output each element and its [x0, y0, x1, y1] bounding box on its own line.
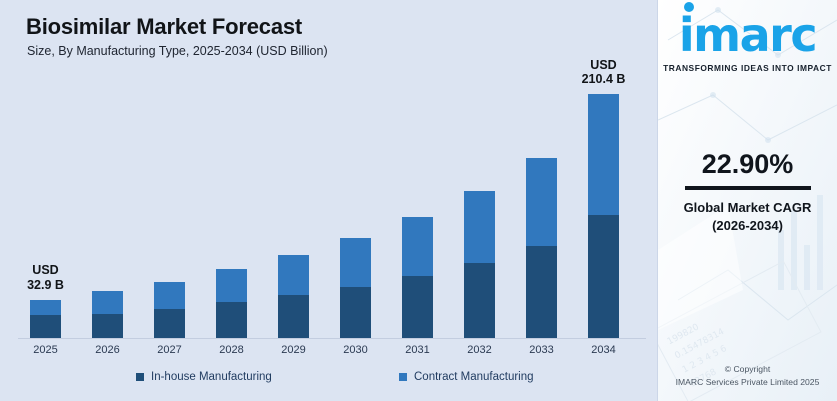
- logo-wordmark: imarc: [679, 12, 816, 58]
- logo-text: imarc: [679, 8, 816, 62]
- brand-logo: imarc TRANSFORMING IDEAS INTO IMPACT: [658, 12, 837, 73]
- cagr-label: Global Market CAGR: [658, 199, 837, 218]
- bar-segment-in-house-2028: [216, 302, 247, 338]
- bar-2030[interactable]: [340, 238, 371, 338]
- bar-segment-contract-2027: [154, 282, 185, 309]
- x-axis-label-2027: 2027: [139, 344, 201, 356]
- legend-swatch-contract: [399, 373, 407, 381]
- bar-segment-in-house-2033: [526, 246, 557, 338]
- bar-segment-contract-2031: [402, 217, 433, 276]
- x-axis-label-2030: 2030: [325, 344, 387, 356]
- x-axis-label-2029: 2029: [263, 344, 325, 356]
- x-axis-label-2031: 2031: [387, 344, 449, 356]
- bar-segment-in-house-2025: [30, 315, 61, 338]
- x-axis-label-2028: 2028: [201, 344, 263, 356]
- bar-2034[interactable]: USD210.4 B: [588, 94, 619, 338]
- cagr-underline: [685, 186, 811, 190]
- bar-2025[interactable]: USD32.9 B: [30, 300, 61, 338]
- x-axis-label-2026: 2026: [77, 344, 139, 356]
- legend-label-in-house: In-house Manufacturing: [151, 371, 272, 383]
- bar-segment-in-house-2026: [92, 314, 123, 338]
- cagr-period: (2026-2034): [658, 218, 837, 233]
- bar-2026[interactable]: [92, 291, 123, 338]
- bar-segment-contract-2028: [216, 269, 247, 302]
- copyright-line-1: © Copyright: [658, 363, 837, 376]
- bar-segment-contract-2030: [340, 238, 371, 287]
- bar-segment-contract-2026: [92, 291, 123, 313]
- bar-segment-contract-2029: [278, 255, 309, 295]
- x-axis-label-2034: 2034: [573, 344, 635, 356]
- legend-label-contract: Contract Manufacturing: [414, 371, 534, 383]
- legend-item-contract[interactable]: Contract Manufacturing: [399, 371, 534, 383]
- plot-area: USD32.9 B2025202620272028202920302031203…: [0, 0, 658, 401]
- cagr-value: 22.90%: [658, 150, 837, 180]
- brand-tagline: TRANSFORMING IDEAS INTO IMPACT: [658, 63, 837, 73]
- x-axis-label-2025: 2025: [15, 344, 77, 356]
- x-axis-line: [18, 338, 646, 339]
- panel-divider: [657, 0, 658, 401]
- bar-segment-in-house-2027: [154, 309, 185, 338]
- bar-2033[interactable]: [526, 158, 557, 338]
- bar-segment-in-house-2034: [588, 215, 619, 338]
- legend-item-in-house[interactable]: In-house Manufacturing: [136, 371, 272, 383]
- bar-value-label-2034: USD210.4 B: [582, 58, 626, 88]
- copyright-line-2: IMARC Services Private Limited 2025: [658, 376, 837, 389]
- bar-segment-contract-2032: [464, 191, 495, 263]
- x-axis-label-2033: 2033: [511, 344, 573, 356]
- infographic-root: Biosimilar Market Forecast Size, By Manu…: [0, 0, 837, 401]
- cagr-block: 22.90% Global Market CAGR (2026-2034): [658, 150, 837, 233]
- chart-panel: Biosimilar Market Forecast Size, By Manu…: [0, 0, 658, 401]
- bar-segment-in-house-2031: [402, 276, 433, 338]
- bar-segment-contract-2025: [30, 300, 61, 315]
- bar-2031[interactable]: [402, 217, 433, 338]
- bar-segment-contract-2033: [526, 158, 557, 246]
- x-axis-label-2032: 2032: [449, 344, 511, 356]
- bar-segment-in-house-2030: [340, 287, 371, 338]
- bar-segment-in-house-2032: [464, 263, 495, 338]
- bar-segment-contract-2034: [588, 94, 619, 215]
- bar-2028[interactable]: [216, 269, 247, 338]
- legend-swatch-in-house: [136, 373, 144, 381]
- chart-legend: In-house Manufacturing Contract Manufact…: [0, 371, 658, 393]
- bar-2032[interactable]: [464, 191, 495, 338]
- bar-2027[interactable]: [154, 282, 185, 338]
- bar-segment-in-house-2029: [278, 295, 309, 338]
- bar-value-label-2025: USD32.9 B: [27, 263, 64, 293]
- copyright-block: © Copyright IMARC Services Private Limit…: [658, 363, 837, 389]
- bar-2029[interactable]: [278, 255, 309, 338]
- logo-dot-icon: [684, 2, 694, 12]
- brand-panel: 199820 0.15478314 1 2 3 4 5 6 92768 imar…: [658, 0, 837, 401]
